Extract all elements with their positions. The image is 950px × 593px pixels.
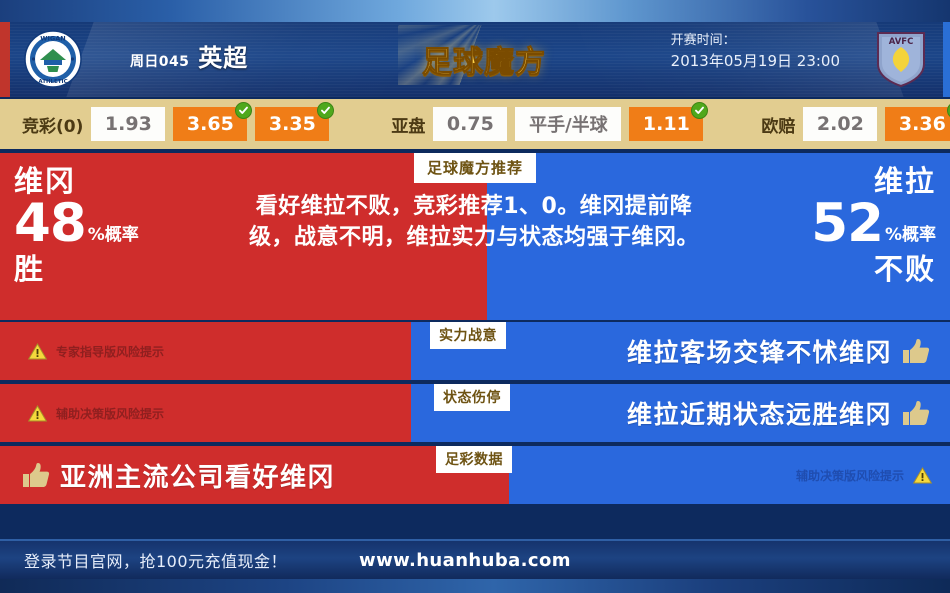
risk-note-assist-right: 辅助决策版风险提示 <box>796 467 932 484</box>
odds-cell-1-2[interactable]: 1.11 <box>629 107 703 141</box>
brand-logo-text: 足球魔方 <box>422 37 546 81</box>
row-left-headline-text: 亚洲主流公司看好维冈 <box>60 457 335 494</box>
odds-group-title: 欧赔 <box>761 112 795 137</box>
check-badge-icon <box>317 102 334 119</box>
risk-note-text: 辅助决策版风险提示 <box>796 467 904 484</box>
odds-group-0: 竞彩(0)1.933.653.35 <box>22 107 329 141</box>
analysis-row-form: 辅助决策版风险提示 维拉近期状态远胜维冈 状态伤停 <box>0 384 950 442</box>
header-accent-strip-left <box>0 22 10 97</box>
row-left-panel: 辅助决策版风险提示 <box>0 384 411 442</box>
odds-cell-2-1[interactable]: 3.36 <box>885 107 950 141</box>
analysis-row-strength: 专家指导版风险提示 维拉客场交锋不怵维冈 实力战意 <box>0 322 950 380</box>
odds-cell-2-0[interactable]: 2.02 <box>803 107 877 141</box>
analysis-rows: 专家指导版风险提示 维拉客场交锋不怵维冈 实力战意 <box>0 322 950 508</box>
row-headline: 维拉客场交锋不怵维冈 <box>627 333 930 369</box>
recommendation-tag: 足球魔方推荐 <box>414 153 536 183</box>
row-right-panel: 辅助决策版风险提示 <box>509 446 950 504</box>
probability-band: 维冈 48 %概率 胜 维拉 52 %概率 不败 足球魔方推荐 看好维拉不败，竞… <box>0 153 950 320</box>
home-prob-team: 维冈 <box>14 167 139 196</box>
row-left-panel: 亚洲主流公司看好维冈 <box>0 446 509 504</box>
away-prob-number: 52 <box>811 200 883 249</box>
odds-cell-1-1[interactable]: 平手/半球 <box>515 107 621 141</box>
header-accent-strip-right <box>943 22 950 97</box>
risk-note-assist: 辅助决策版风险提示 <box>28 405 164 422</box>
row-left-panel: 专家指导版风险提示 <box>0 322 411 380</box>
risk-note-text: 专家指导版风险提示 <box>56 343 164 360</box>
kickoff-label: 开赛时间： <box>671 32 840 51</box>
home-prob-unit: %概率 <box>88 227 139 249</box>
kickoff-info: 开赛时间： 2013年05月19日 23:00 <box>671 32 840 73</box>
odds-group-2: 欧赔2.023.363.54 <box>761 107 950 141</box>
row-headline-text: 维拉客场交锋不怵维冈 <box>627 333 892 369</box>
row-headline-text: 维拉近期状态远胜维冈 <box>627 395 892 431</box>
home-probability: 维冈 48 %概率 胜 <box>14 167 139 284</box>
row-left-headline: 亚洲主流公司看好维冈 <box>22 457 335 494</box>
thumbs-up-icon <box>902 338 930 364</box>
top-sky-strip <box>0 0 950 22</box>
footer-website-url[interactable]: www.huanhuba.com <box>359 550 571 571</box>
away-probability: 维拉 52 %概率 不败 <box>811 167 936 284</box>
kickoff-datetime: 2013年05月19日 23:00 <box>671 51 840 73</box>
league-name: 英超 <box>198 38 248 73</box>
away-prob-team: 维拉 <box>811 167 936 196</box>
home-team-crest-wigan: WIGAN ATHLETIC <box>24 30 82 88</box>
svg-text:WIGAN: WIGAN <box>40 35 65 43</box>
odds-cell-0-0[interactable]: 1.93 <box>91 107 165 141</box>
odds-cell-0-1[interactable]: 3.65 <box>173 107 247 141</box>
analysis-row-betting-data: 亚洲主流公司看好维冈 辅助决策版风险提示 足彩数据 <box>0 446 950 504</box>
thumbs-up-icon <box>22 462 50 488</box>
check-badge-icon <box>235 102 252 119</box>
away-team-crest-aston-villa: AVFC <box>874 30 928 88</box>
broadcast-graphic: WIGAN ATHLETIC AVFC 周日045 英超 足球魔方 开赛时间： … <box>0 0 950 593</box>
recommendation-text: 看好维拉不败，竞彩推荐1、0。维冈提前降级，战意不明，维拉实力与状态均强于维冈。 <box>243 191 705 253</box>
match-identifier: 周日045 英超 <box>130 38 248 73</box>
away-prob-unit: %概率 <box>885 227 936 249</box>
bottom-sky-strip <box>0 579 950 593</box>
risk-note-text: 辅助决策版风险提示 <box>56 405 164 422</box>
odds-group-title: 竞彩(0) <box>22 112 83 137</box>
svg-text:AVFC: AVFC <box>889 37 914 47</box>
away-prob-outcome: 不败 <box>811 255 936 284</box>
row-tag: 实力战意 <box>430 322 506 349</box>
home-prob-outcome: 胜 <box>14 255 139 284</box>
row-headline: 维拉近期状态远胜维冈 <box>627 395 930 431</box>
risk-note-expert: 专家指导版风险提示 <box>28 343 164 360</box>
check-badge-icon <box>691 102 708 119</box>
odds-group-title: 亚盘 <box>391 112 425 137</box>
warning-triangle-icon <box>913 467 932 484</box>
footer-promo-bar: 登录节目官网，抢100元充值现金！ www.huanhuba.com <box>0 539 950 579</box>
brand-logo: 足球魔方 <box>398 25 570 93</box>
row-tag: 足彩数据 <box>436 446 512 473</box>
odds-cell-1-0[interactable]: 0.75 <box>433 107 507 141</box>
warning-triangle-icon <box>28 343 47 360</box>
odds-bar: 竞彩(0)1.933.653.35亚盘0.75平手/半球1.11欧赔2.023.… <box>0 99 950 149</box>
warning-triangle-icon <box>28 405 47 422</box>
home-prob-number: 48 <box>14 200 86 249</box>
thumbs-up-icon <box>902 400 930 426</box>
footer-promo-text: 登录节目官网，抢100元充值现金！ <box>24 548 287 572</box>
row-tag: 状态伤停 <box>434 384 510 411</box>
odds-cell-0-2[interactable]: 3.35 <box>255 107 329 141</box>
match-number: 周日045 <box>130 51 189 71</box>
svg-text:ATHLETIC: ATHLETIC <box>38 79 67 85</box>
odds-group-1: 亚盘0.75平手/半球1.11 <box>391 107 703 141</box>
